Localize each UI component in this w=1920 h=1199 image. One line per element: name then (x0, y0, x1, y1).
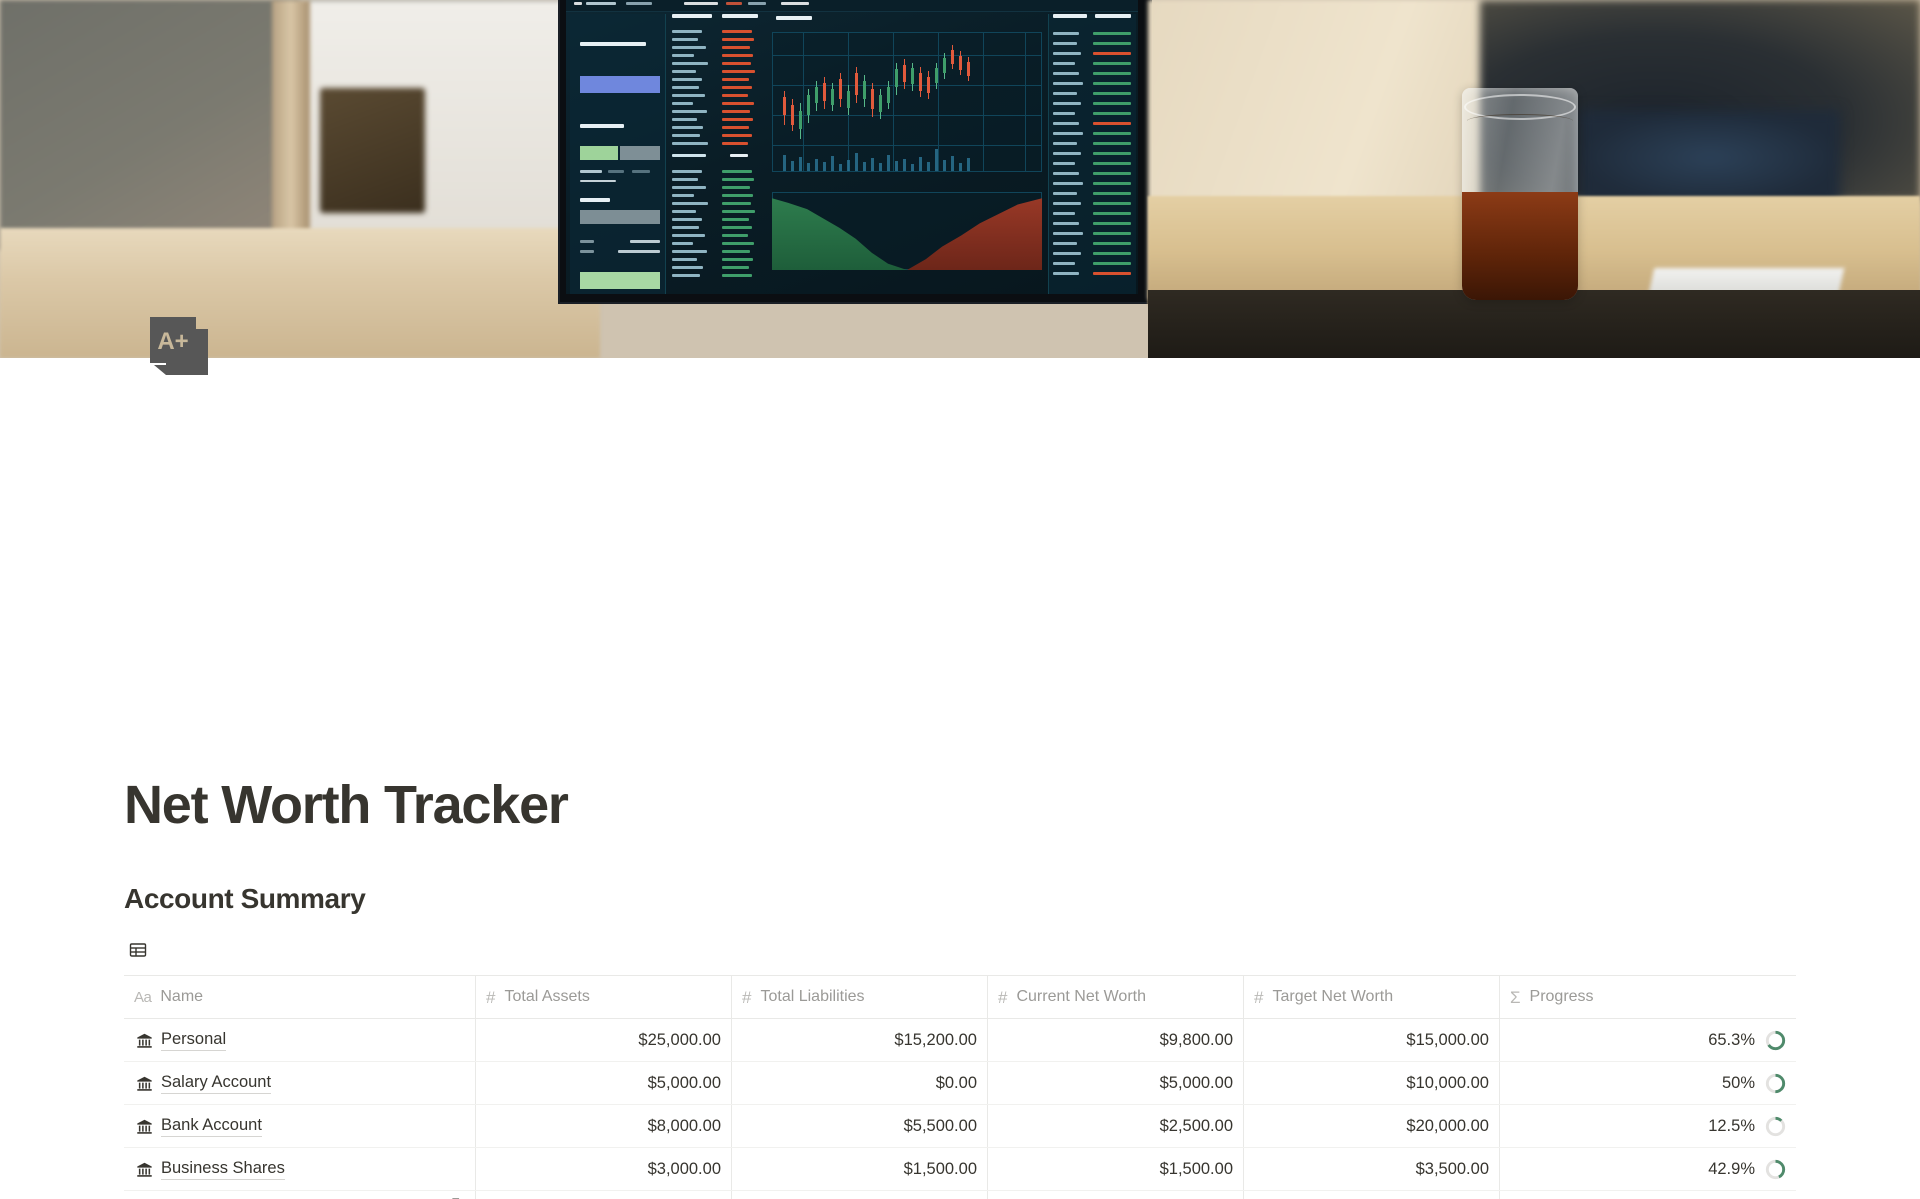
cell-progress[interactable]: 42.9% (1500, 1148, 1796, 1190)
row-title[interactable]: Business Shares (161, 1159, 285, 1180)
cell-total-liabilities[interactable]: $1,500.00 (732, 1148, 988, 1190)
cell-progress[interactable]: 12.5% (1500, 1105, 1796, 1147)
cell-total-assets[interactable]: $5,000.00 (476, 1062, 732, 1104)
table-row[interactable]: Personal $25,000.00 $15,200.00 $9,800.00… (124, 1019, 1796, 1062)
column-label: Target Net Worth (1272, 988, 1393, 1006)
a-plus-page-icon[interactable]: A+ (140, 307, 216, 383)
cell-name[interactable]: Personal (124, 1019, 476, 1061)
number-type-icon: # (998, 989, 1007, 1006)
cell-current-net-worth[interactable]: $2,500.00 (988, 1105, 1244, 1147)
cell-name[interactable]: Business Shares (124, 1148, 476, 1190)
cell-current-net-worth[interactable]: $1,500.00 (988, 1148, 1244, 1190)
progress-value-text: 42.9% (1708, 1160, 1755, 1179)
svg-text:A+: A+ (157, 328, 188, 355)
column-header-progress[interactable]: Σ Progress (1500, 976, 1796, 1018)
bank-icon (134, 1159, 154, 1179)
bank-icon (134, 1073, 154, 1093)
cell-progress[interactable]: 50% (1500, 1062, 1796, 1104)
table-footer[interactable]: COUNT 5 (124, 1185, 1796, 1199)
mason-jar (1462, 88, 1578, 300)
row-title[interactable]: Bank Account (161, 1116, 262, 1137)
cell-target-net-worth[interactable]: $10,000.00 (1244, 1062, 1500, 1104)
cell-current-net-worth[interactable]: $5,000.00 (988, 1062, 1244, 1104)
column-header-current-net-worth[interactable]: # Current Net Worth (988, 976, 1244, 1018)
cell-total-assets[interactable]: $8,000.00 (476, 1105, 732, 1147)
table-icon (128, 940, 148, 965)
progress-ring-icon (1765, 1073, 1786, 1094)
column-label: Name (160, 988, 203, 1006)
row-title[interactable]: Salary Account (161, 1073, 271, 1094)
cell-target-net-worth[interactable]: $15,000.00 (1244, 1019, 1500, 1061)
account-summary-table[interactable]: Aa Name # Total Assets # Total Liabiliti… (124, 975, 1796, 1199)
bank-icon (134, 1030, 154, 1050)
count-value: 5 (451, 1195, 460, 1199)
column-label: Current Net Worth (1016, 988, 1146, 1006)
cell-total-liabilities[interactable]: $15,200.00 (732, 1019, 988, 1061)
formula-sigma-icon: Σ (1510, 989, 1521, 1006)
row-title[interactable]: Personal (161, 1030, 226, 1051)
bank-icon (134, 1116, 154, 1136)
column-label: Total Liabilities (760, 988, 864, 1006)
page-cover[interactable] (0, 0, 1920, 358)
text-type-icon: Aa (134, 990, 151, 1005)
cell-total-assets[interactable]: $25,000.00 (476, 1019, 732, 1061)
trading-terminal-screen (566, 0, 1138, 294)
column-header-name[interactable]: Aa Name (124, 976, 476, 1018)
number-type-icon: # (486, 989, 495, 1006)
cell-progress[interactable]: 65.3% (1500, 1019, 1796, 1061)
column-label: Total Assets (504, 988, 589, 1006)
cell-total-assets[interactable]: $3,000.00 (476, 1148, 732, 1190)
number-type-icon: # (1254, 989, 1263, 1006)
page-title[interactable]: Net Worth Tracker (124, 776, 568, 835)
column-header-total-liabilities[interactable]: # Total Liabilities (732, 976, 988, 1018)
cover-photo (0, 0, 1920, 358)
section-heading-account-summary: Account Summary (124, 883, 365, 915)
column-header-total-assets[interactable]: # Total Assets (476, 976, 732, 1018)
progress-value-text: 12.5% (1708, 1117, 1755, 1136)
table-row[interactable]: Bank Account $8,000.00 $5,500.00 $2,500.… (124, 1105, 1796, 1148)
cell-current-net-worth[interactable]: $9,800.00 (988, 1019, 1244, 1061)
cell-target-net-worth[interactable]: $3,500.00 (1244, 1148, 1500, 1190)
column-label: Progress (1530, 988, 1594, 1006)
progress-ring-icon (1765, 1116, 1786, 1137)
progress-ring-icon (1765, 1030, 1786, 1051)
cell-total-liabilities[interactable]: $0.00 (732, 1062, 988, 1104)
number-type-icon: # (742, 989, 751, 1006)
progress-value-text: 65.3% (1708, 1031, 1755, 1050)
table-header-row: Aa Name # Total Assets # Total Liabiliti… (124, 976, 1796, 1019)
cell-target-net-worth[interactable]: $20,000.00 (1244, 1105, 1500, 1147)
cell-name[interactable]: Bank Account (124, 1105, 476, 1147)
table-row[interactable]: Salary Account $5,000.00 $0.00 $5,000.00… (124, 1062, 1796, 1105)
progress-value-text: 50% (1722, 1074, 1755, 1093)
cell-total-liabilities[interactable]: $5,500.00 (732, 1105, 988, 1147)
progress-ring-icon (1765, 1159, 1786, 1180)
cell-name[interactable]: Salary Account (124, 1062, 476, 1104)
column-header-target-net-worth[interactable]: # Target Net Worth (1244, 976, 1500, 1018)
